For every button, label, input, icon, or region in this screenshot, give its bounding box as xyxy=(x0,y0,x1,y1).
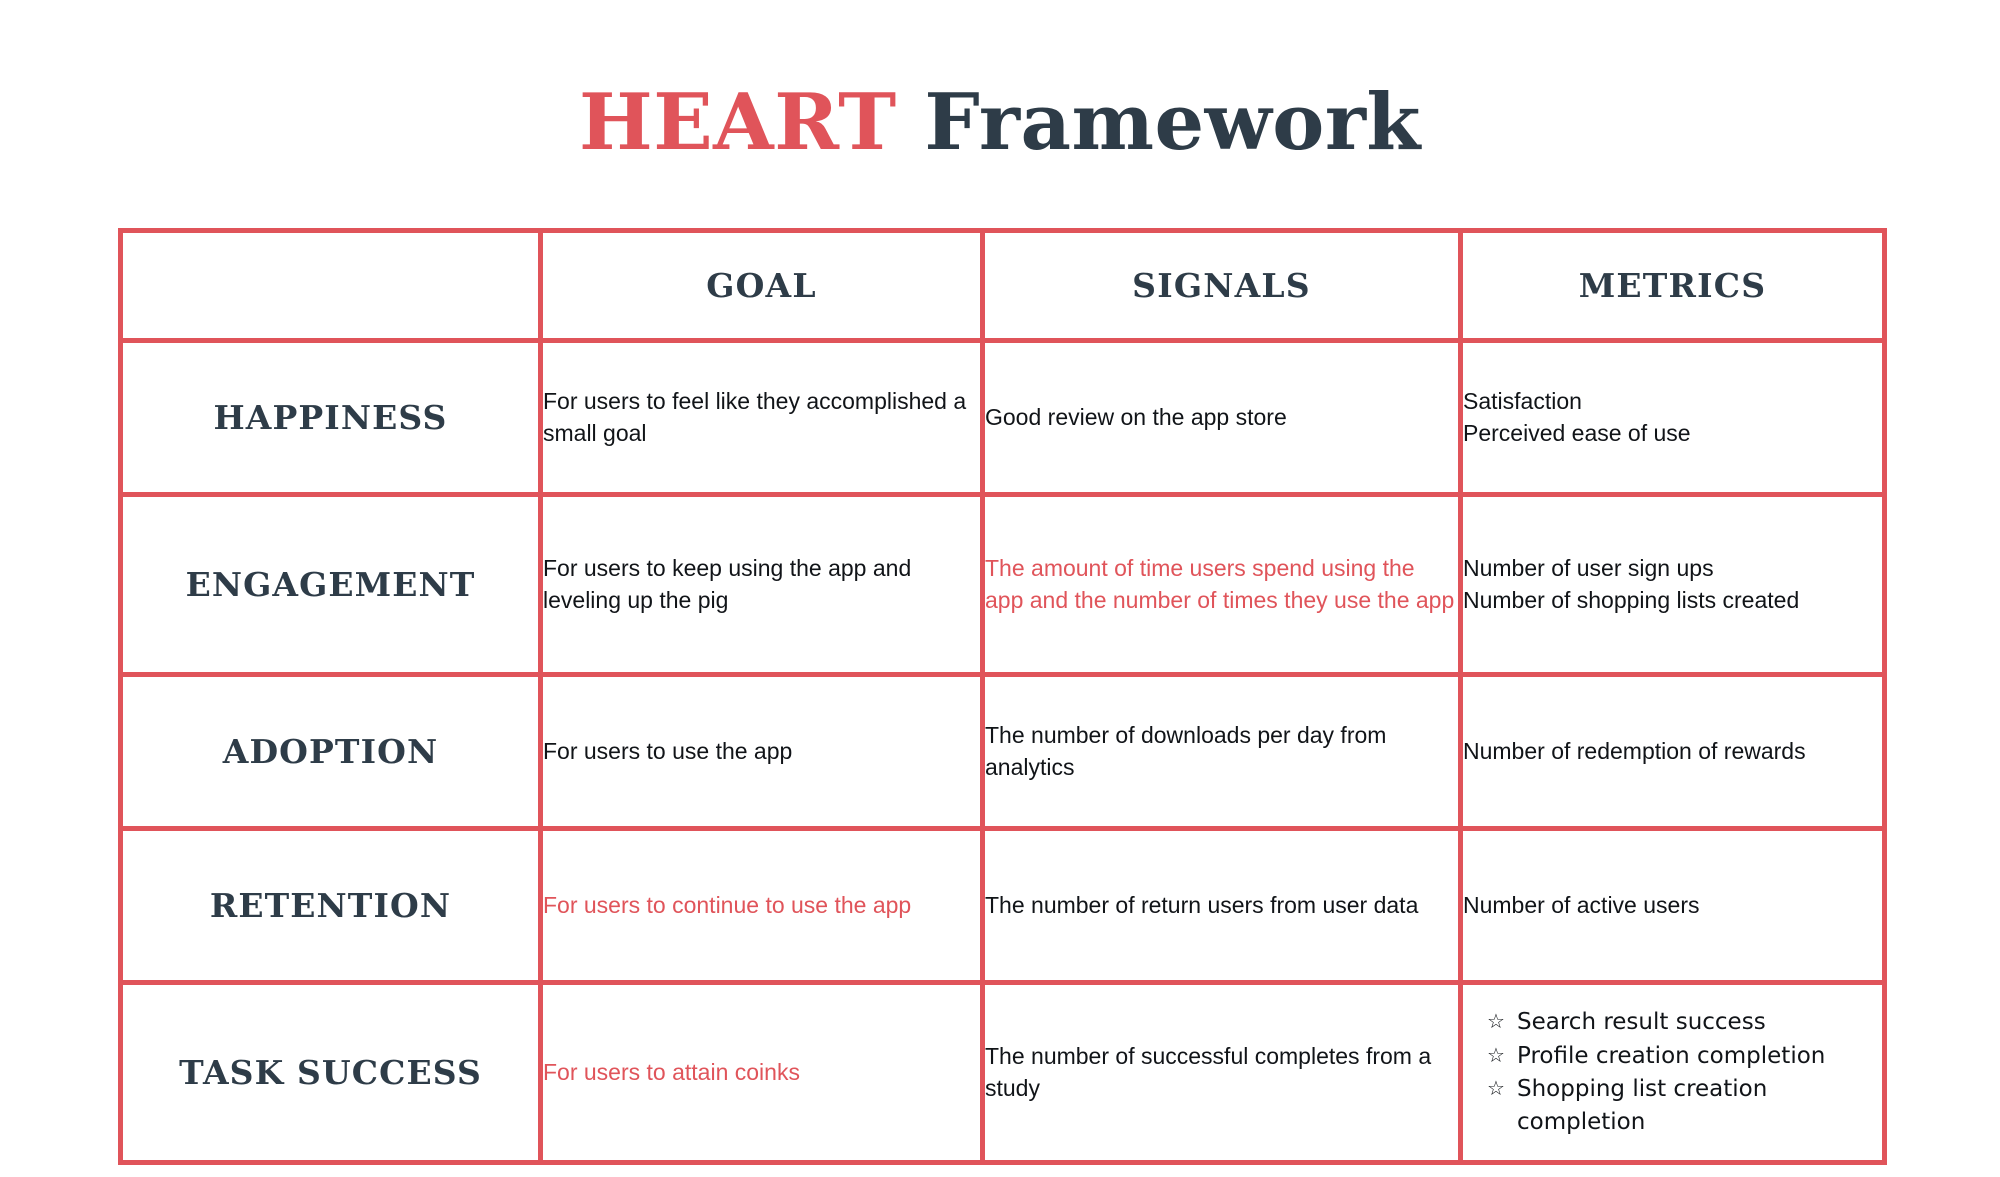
cell-task-success-metrics: ☆ Search result success ☆ Profile creati… xyxy=(1461,983,1885,1163)
column-header-metrics: METRICS xyxy=(1461,231,1885,341)
table-row: ADOPTION For users to use the app The nu… xyxy=(121,675,1885,829)
row-label-retention: RETENTION xyxy=(121,829,541,983)
title-highlight: HEART xyxy=(579,77,897,168)
page-title: HEART Framework xyxy=(0,52,2000,168)
list-item-label: Search result success xyxy=(1517,1009,1766,1035)
star-icon: ☆ xyxy=(1487,1041,1505,1069)
corner-header-cell xyxy=(121,231,541,341)
title-rest: Framework xyxy=(924,77,1421,168)
row-label-engagement: ENGAGEMENT xyxy=(121,495,541,675)
cell-adoption-signals: The number of downloads per day from ana… xyxy=(983,675,1461,829)
metrics-star-list: ☆ Search result success ☆ Profile creati… xyxy=(1463,998,1882,1148)
list-item-label: Shopping list creation completion xyxy=(1517,1076,1767,1135)
star-icon: ☆ xyxy=(1487,1007,1505,1035)
cell-task-success-goal: For users to attain coinks xyxy=(541,983,983,1163)
list-item: ☆ Search result success xyxy=(1487,1006,1860,1039)
heart-framework-table: GOAL SIGNALS METRICS HAPPINESS For users… xyxy=(118,228,1887,1165)
list-item: ☆ Shopping list creation completion xyxy=(1487,1073,1860,1138)
cell-adoption-metrics: Number of redemption of rewards xyxy=(1461,675,1885,829)
row-label-adoption: ADOPTION xyxy=(121,675,541,829)
heart-framework-table-wrapper: GOAL SIGNALS METRICS HAPPINESS For users… xyxy=(118,228,1882,1108)
table-row: HAPPINESS For users to feel like they ac… xyxy=(121,341,1885,495)
row-label-happiness: HAPPINESS xyxy=(121,341,541,495)
table-row: RETENTION For users to continue to use t… xyxy=(121,829,1885,983)
cell-retention-goal: For users to continue to use the app xyxy=(541,829,983,983)
cell-retention-metrics: Number of active users xyxy=(1461,829,1885,983)
cell-happiness-signals: Good review on the app store xyxy=(983,341,1461,495)
column-header-goal: GOAL xyxy=(541,231,983,341)
table-header-row: GOAL SIGNALS METRICS xyxy=(121,231,1885,341)
cell-engagement-metrics: Number of user sign ups Number of shoppi… xyxy=(1461,495,1885,675)
column-header-signals: SIGNALS xyxy=(983,231,1461,341)
cell-happiness-goal: For users to feel like they accomplished… xyxy=(541,341,983,495)
cell-task-success-signals: The number of successful completes from … xyxy=(983,983,1461,1163)
cell-retention-signals: The number of return users from user dat… xyxy=(983,829,1461,983)
star-icon: ☆ xyxy=(1487,1074,1505,1102)
cell-happiness-metrics: Satisfaction Perceived ease of use xyxy=(1461,341,1885,495)
list-item-label: Profile creation completion xyxy=(1517,1043,1825,1069)
cell-engagement-signals: The amount of time users spend using the… xyxy=(983,495,1461,675)
cell-adoption-goal: For users to use the app xyxy=(541,675,983,829)
row-label-task-success: TASK SUCCESS xyxy=(121,983,541,1163)
table-row: TASK SUCCESS For users to attain coinks … xyxy=(121,983,1885,1163)
list-item: ☆ Profile creation completion xyxy=(1487,1040,1860,1073)
cell-engagement-goal: For users to keep using the app and leve… xyxy=(541,495,983,675)
table-row: ENGAGEMENT For users to keep using the a… xyxy=(121,495,1885,675)
